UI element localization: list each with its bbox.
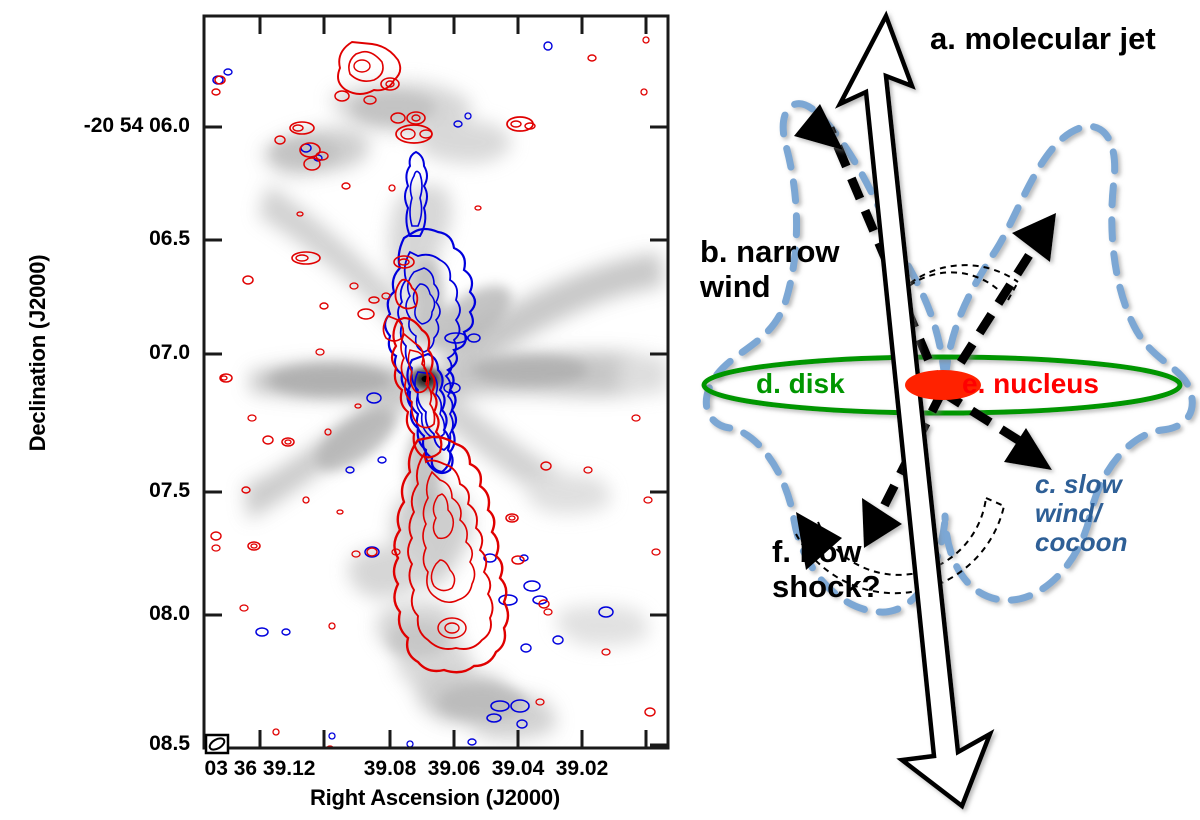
radio-map-panel: Declination (J2000) Right Ascension (J20… bbox=[0, 0, 690, 820]
cartoon-svg bbox=[690, 0, 1200, 820]
label-slow-wind-cocoon: c. slow wind/ cocoon bbox=[1035, 470, 1195, 557]
label-narrow-wind: b. narrow wind bbox=[700, 235, 910, 304]
label-nucleus: e. nucleus bbox=[962, 368, 1099, 399]
label-disk: d. disk bbox=[756, 368, 845, 399]
radio-map-svg bbox=[0, 0, 690, 820]
label-molecular-jet: a. molecular jet bbox=[930, 22, 1160, 57]
beam-marker bbox=[206, 735, 228, 753]
figure-root: Declination (J2000) Right Ascension (J20… bbox=[0, 0, 1200, 820]
label-bow-shock: f. bow shock? bbox=[772, 535, 952, 604]
cartoon-panel: a. molecular jet b. narrow wind c. slow … bbox=[690, 0, 1200, 820]
